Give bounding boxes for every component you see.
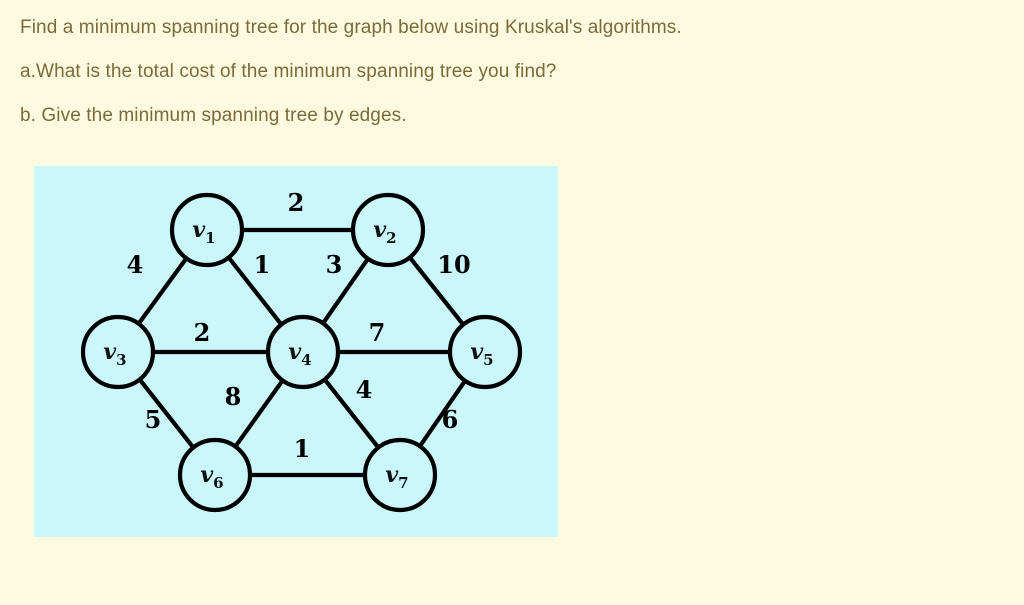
edge-weight-v4-v6: 8 [225,382,242,411]
edge-weight-v5-v7: 6 [442,405,459,434]
weighted-graph-diagram: v1v2v3v4v5v6v7 2413102758461 [34,166,558,537]
edge-weight-v2-v5: 10 [437,250,470,279]
edge-weight-v1-v4: 1 [254,250,271,279]
edge-weight-v4-v5: 7 [369,318,386,347]
edge-weight-v1-v3: 4 [127,250,144,279]
graph-node-v7: v7 [365,440,435,510]
graph-node-v3: v3 [83,317,153,387]
question-prompt: Find a minimum spanning tree for the gra… [20,18,980,37]
edge-weight-v2-v4: 3 [326,250,343,279]
edge-weight-v1-v2: 2 [288,188,305,217]
edge-weight-v3-v6: 5 [145,405,162,434]
edge-weight-v6-v7: 1 [294,434,311,463]
node-subscript-v7: 7 [398,474,408,492]
question-part-b: b. Give the minimum spanning tree by edg… [20,106,980,125]
node-subscript-v4: 4 [301,351,311,369]
node-subscript-v6: 6 [213,474,223,492]
graph-edge-v4-v6 [235,380,282,446]
graph-node-v6: v6 [180,440,250,510]
question-part-a: a.What is the total cost of the minimum … [20,62,980,81]
node-subscript-v2: 2 [386,229,396,247]
node-subscript-v3: 3 [116,351,126,369]
question-text-block: Find a minimum spanning tree for the gra… [20,18,980,150]
graph-node-v2: v2 [353,195,423,265]
edge-weight-v4-v7: 4 [356,375,373,404]
graph-node-v4: v4 [268,317,338,387]
graph-node-v1: v1 [172,195,242,265]
edge-weight-v3-v4: 2 [194,318,211,347]
node-subscript-v1: 1 [205,229,215,247]
node-subscript-v5: 5 [483,351,493,369]
graph-edge-v1-v3 [139,258,187,323]
graph-node-v5: v5 [450,317,520,387]
graph-image-panel: v1v2v3v4v5v6v7 2413102758461 [34,166,558,537]
